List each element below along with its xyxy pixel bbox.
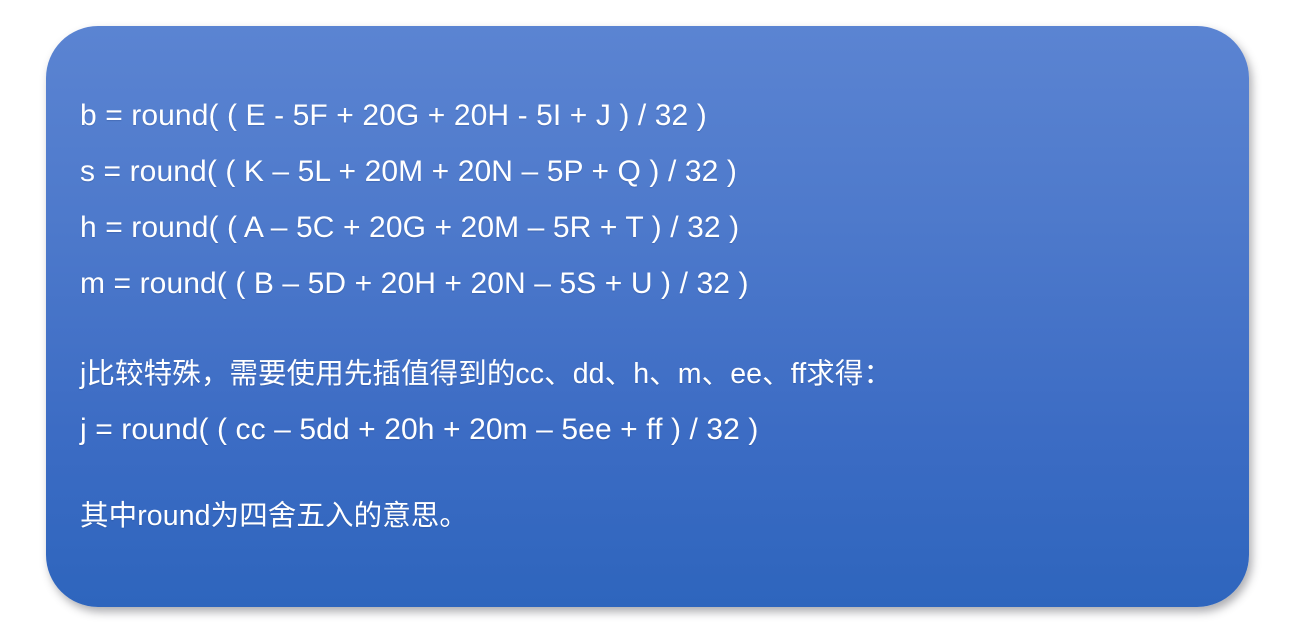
- formula-line-j: j = round( ( cc – 5dd + 20h + 20m – 5ee …: [80, 402, 1225, 458]
- note-intro-text: j比较特殊，需要使用先插值得到的cc、dd、h、m、ee、ff求得：: [80, 346, 1225, 402]
- formula-card: b = round( ( E - 5F + 20G + 20H - 5I + J…: [46, 26, 1249, 607]
- formula-text-block: b = round( ( E - 5F + 20G + 20H - 5I + J…: [80, 88, 1225, 544]
- block-spacer-two: [80, 458, 1225, 488]
- footnote-text: 其中round为四舍五入的意思。: [80, 488, 1225, 544]
- block-spacer-one: [80, 312, 1225, 346]
- slide-canvas: b = round( ( E - 5F + 20G + 20H - 5I + J…: [0, 0, 1315, 632]
- formula-line-h: h = round( ( A – 5C + 20G + 20M – 5R + T…: [80, 200, 1225, 256]
- formula-line-m: m = round( ( B – 5D + 20H + 20N – 5S + U…: [80, 256, 1225, 312]
- formula-line-s: s = round( ( K – 5L + 20M + 20N – 5P + Q…: [80, 144, 1225, 200]
- formula-line-b: b = round( ( E - 5F + 20G + 20H - 5I + J…: [80, 88, 1225, 144]
